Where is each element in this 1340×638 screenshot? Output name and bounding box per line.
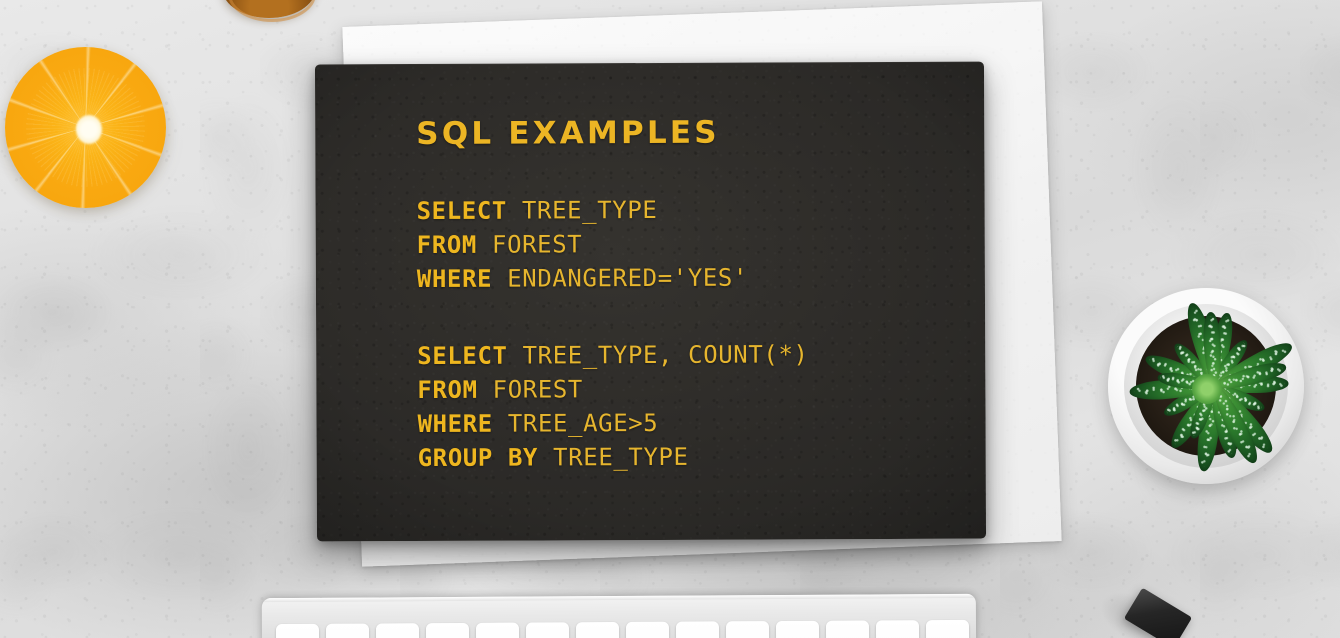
sql-keyword: SELECT (417, 342, 507, 370)
keyboard-key[interactable] (626, 622, 669, 638)
sql-line: SELECT TREE_TYPE (417, 192, 985, 228)
sql-value: TREE_TYPE (507, 196, 658, 225)
keyboard-key[interactable] (826, 620, 869, 638)
keyboard-key[interactable] (476, 623, 519, 638)
sql-card: SQL EXAMPLES SELECT TREE_TYPE FROM FORES… (315, 62, 986, 542)
succulent-rosette-core (1192, 374, 1222, 404)
keyboard-key[interactable] (676, 621, 719, 638)
sql-keyword: GROUP BY (418, 443, 539, 472)
sql-value: TREE_TYPE (538, 443, 689, 472)
sql-value: ENDANGERED='YES' (492, 264, 748, 293)
keyboard-key[interactable] (576, 622, 619, 638)
keyboard[interactable] (262, 594, 976, 638)
sql-keyword: SELECT (417, 197, 507, 225)
sql-keyword: FROM (417, 376, 477, 404)
keyboard-key[interactable] (376, 623, 419, 638)
sql-query-2: SELECT TREE_TYPE, COUNT(*) FROM FOREST W… (417, 337, 986, 475)
sql-line: WHERE TREE_AGE>5 (417, 405, 985, 441)
orange-core (76, 115, 102, 144)
sql-keyword: FROM (417, 231, 477, 259)
card-content: SQL EXAMPLES SELECT TREE_TYPE FROM FORES… (315, 62, 986, 542)
sql-value: TREE_AGE>5 (493, 409, 659, 438)
sql-line: WHERE ENDANGERED='YES' (417, 260, 985, 296)
sql-line: FROM FOREST (417, 371, 985, 407)
keyboard-key[interactable] (526, 622, 569, 638)
sql-line: GROUP BY TREE_TYPE (418, 439, 986, 475)
sql-line: SELECT TREE_TYPE, COUNT(*) (417, 337, 985, 373)
sql-line: FROM FOREST (417, 226, 985, 262)
sql-query-1: SELECT TREE_TYPE FROM FOREST WHERE ENDAN… (417, 192, 985, 296)
keyboard-key[interactable] (326, 624, 369, 638)
orange-half (5, 47, 166, 208)
keyboard-key[interactable] (776, 621, 819, 638)
sql-value: FOREST (477, 230, 582, 258)
keyboard-key-row[interactable] (276, 620, 968, 638)
page-title: SQL EXAMPLES (416, 117, 984, 150)
sql-value: FOREST (478, 375, 583, 403)
keyboard-key[interactable] (276, 624, 319, 638)
keyboard-key[interactable] (726, 621, 769, 638)
keyboard-key[interactable] (876, 620, 919, 638)
photo-scene: SQL EXAMPLES SELECT TREE_TYPE FROM FORES… (0, 0, 1340, 638)
sql-keyword: WHERE (417, 265, 492, 293)
keyboard-key[interactable] (926, 620, 969, 638)
sql-keyword: WHERE (417, 410, 492, 438)
sql-value: TREE_TYPE, COUNT(*) (507, 340, 808, 369)
keyboard-key[interactable] (426, 623, 469, 638)
